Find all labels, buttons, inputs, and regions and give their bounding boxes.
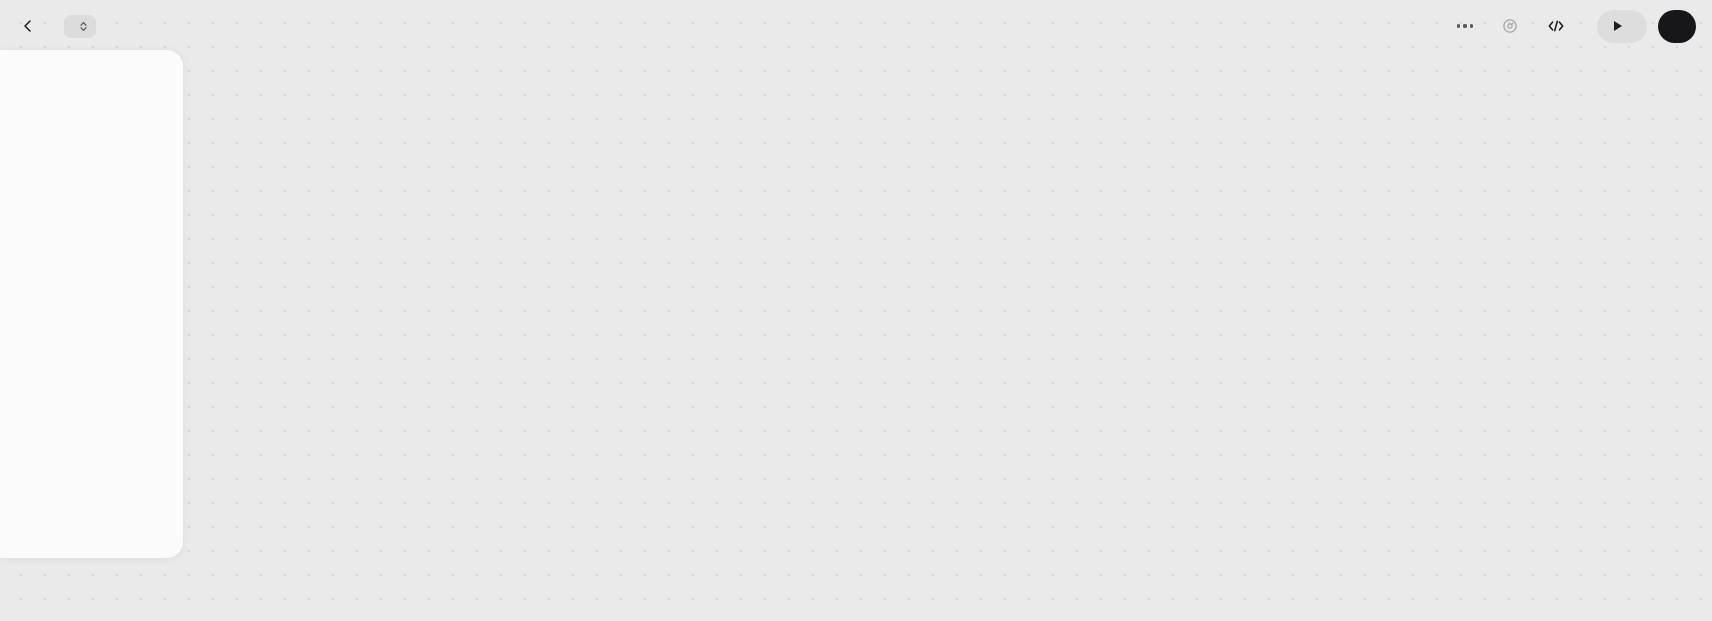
header-right-group [1449, 10, 1712, 43]
workflow-builder-app [0, 0, 1712, 621]
back-button[interactable] [14, 12, 42, 40]
code-button[interactable] [1536, 10, 1583, 42]
code-brackets-icon [1547, 19, 1565, 33]
evaluate-target-icon [1502, 18, 1518, 34]
header-left-group [0, 12, 96, 40]
more-horizontal-icon-dot3 [1470, 24, 1473, 27]
node-palette-sidebar[interactable] [0, 50, 183, 558]
publish-button[interactable] [1658, 10, 1696, 43]
more-horizontal-icon [1457, 24, 1460, 27]
more-horizontal-icon-dot2 [1463, 24, 1466, 27]
play-icon [1614, 21, 1622, 31]
preview-button[interactable] [1597, 10, 1647, 43]
chevron-up-down-icon [78, 20, 89, 33]
app-header [0, 0, 1712, 52]
workflow-canvas[interactable] [0, 0, 1712, 621]
evaluate-button[interactable] [1491, 10, 1536, 42]
more-options-button[interactable] [1449, 11, 1481, 41]
chevron-left-icon [20, 18, 36, 34]
status-badge[interactable] [64, 15, 96, 38]
